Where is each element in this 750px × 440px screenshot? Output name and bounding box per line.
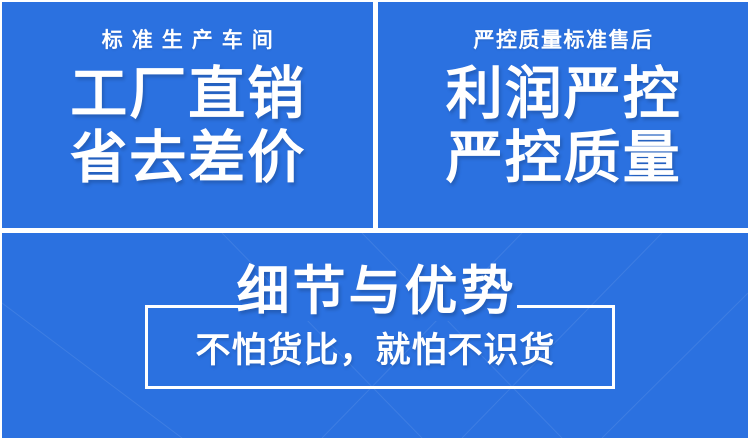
panel-headline-left-line1: 工厂直销 <box>68 65 306 125</box>
details-title: 细节与优势 <box>2 265 748 318</box>
top-panel-row: 标准生产车间 工厂直销 省去差价 严控质量标准售后 利润严控 严控质量 <box>2 2 748 228</box>
panel-quality-control: 严控质量标准售后 利润严控 严控质量 <box>378 2 749 228</box>
panel-headline-left-line2: 省去差价 <box>68 129 306 189</box>
panel-eyebrow-left: 标准生产车间 <box>93 30 282 51</box>
panel-details-advantages: 细节与优势 不怕货比，就怕不识货 <box>2 233 748 438</box>
panel-headline-right-line1: 利润严控 <box>444 65 682 125</box>
panel-eyebrow-right: 严控质量标准售后 <box>472 30 654 51</box>
details-subtitle: 不怕货比，就怕不识货 <box>2 333 748 368</box>
panel-headline-right-line2: 严控质量 <box>444 129 682 189</box>
panel-factory-direct: 标准生产车间 工厂直销 省去差价 <box>2 2 373 228</box>
promo-banner: 标准生产车间 工厂直销 省去差价 严控质量标准售后 利润严控 严控质量 <box>0 0 750 440</box>
